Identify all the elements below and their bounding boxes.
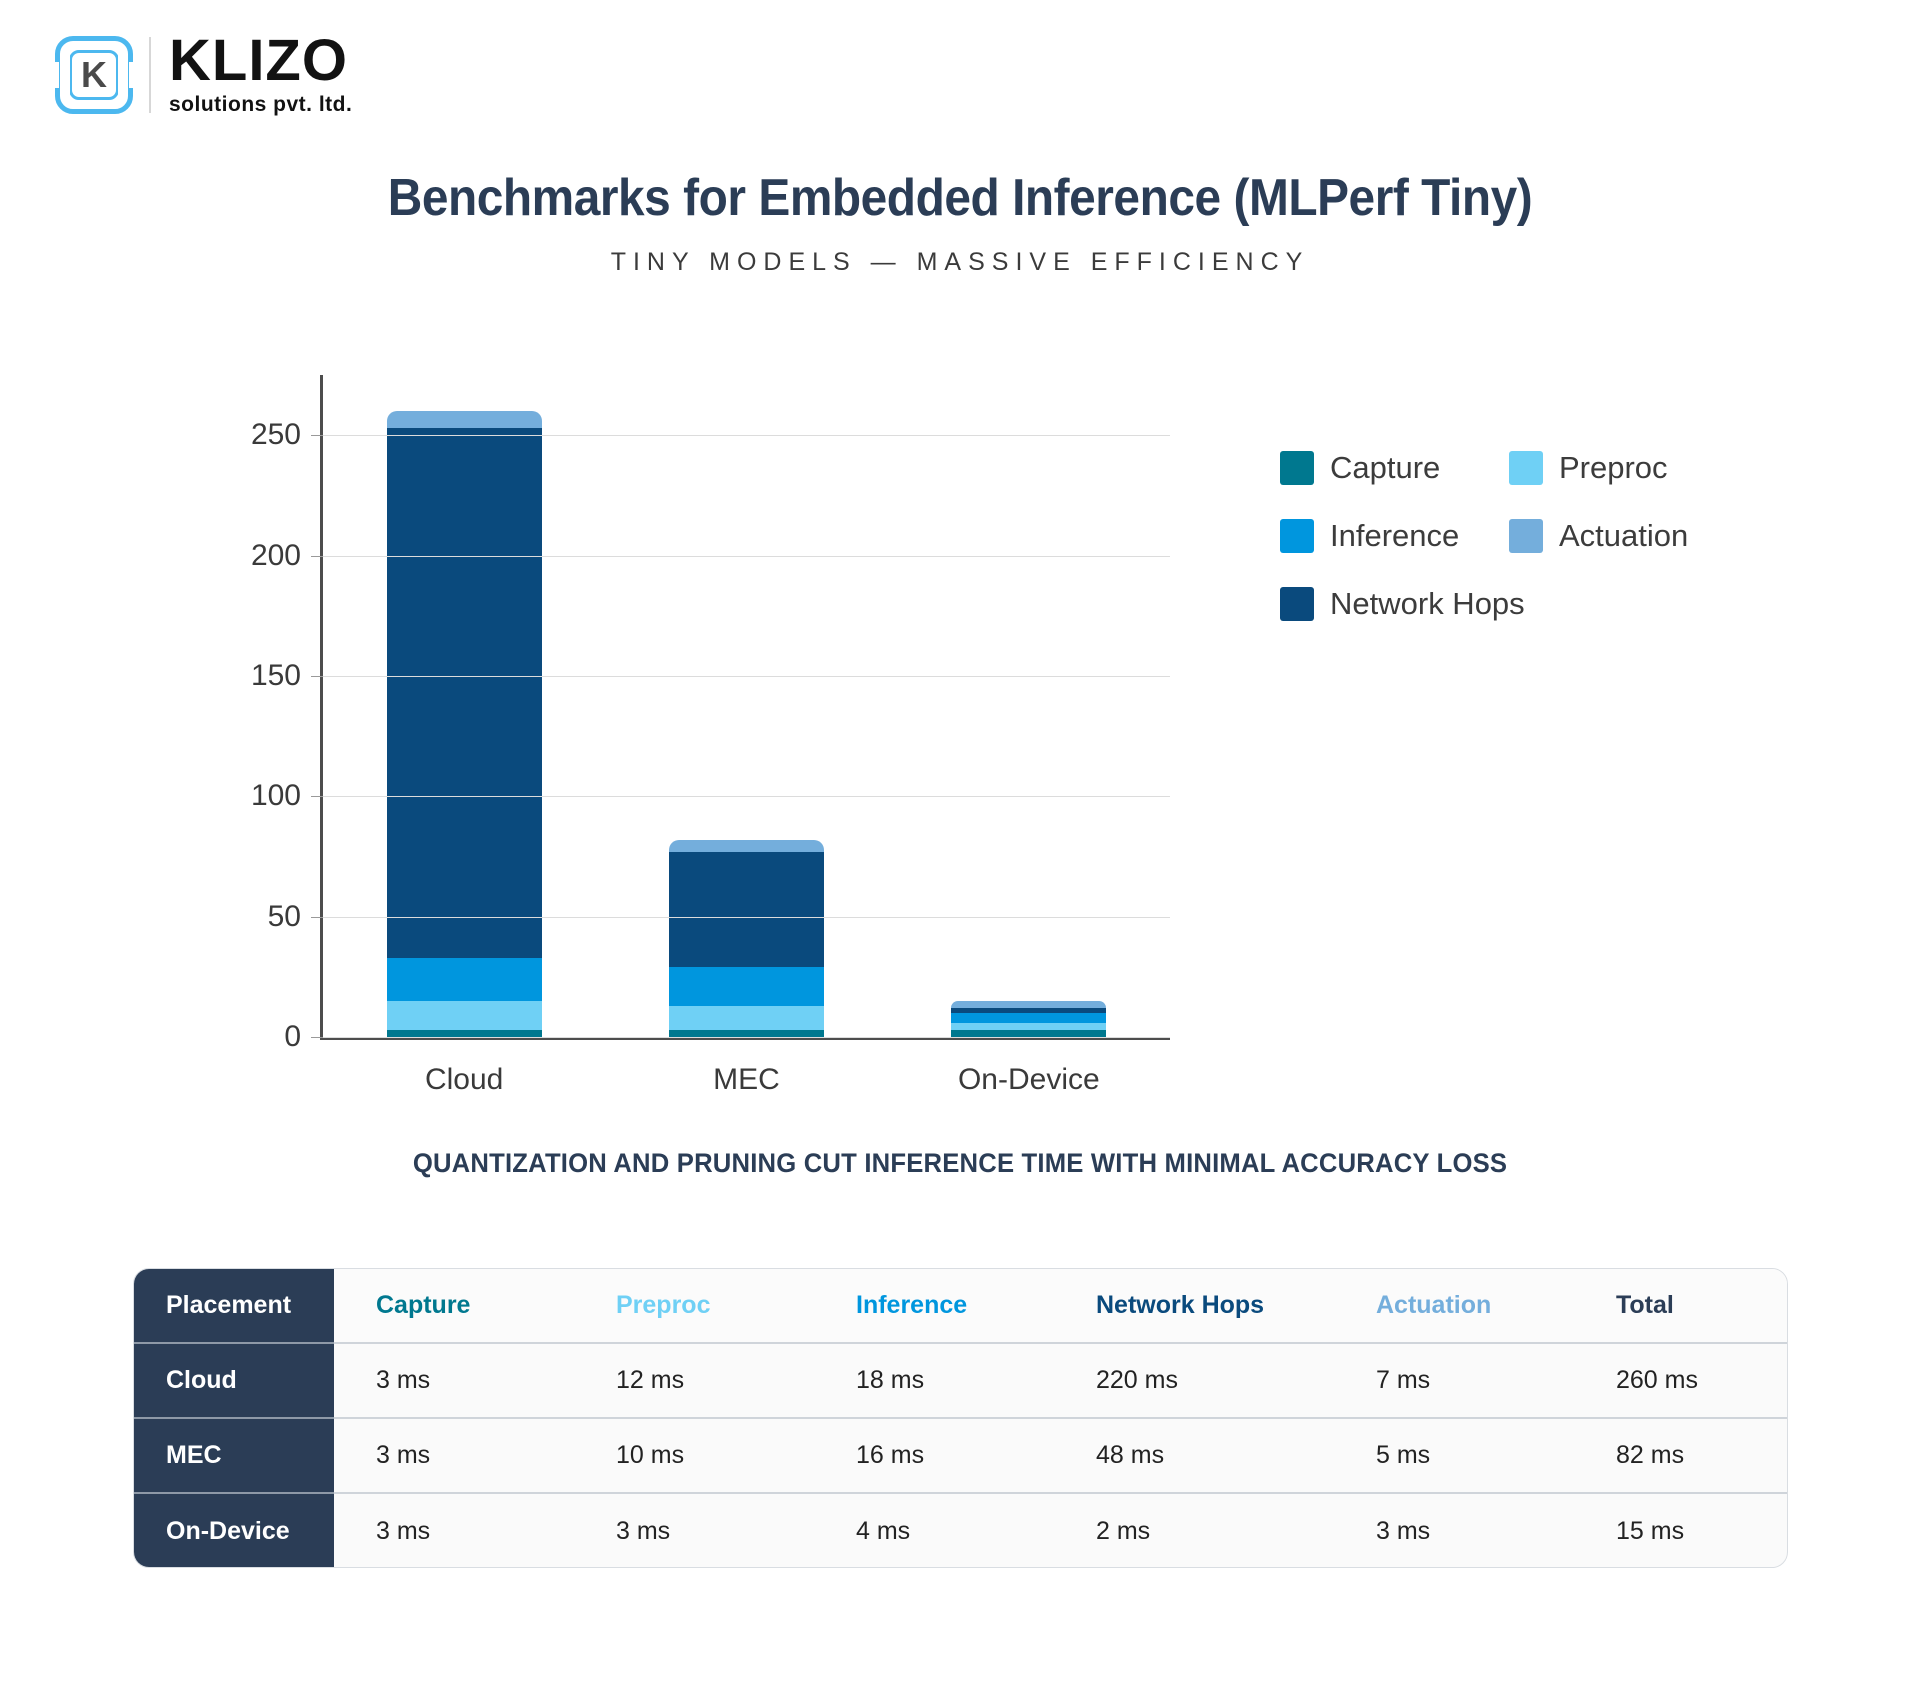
chart-y-tick xyxy=(311,676,323,677)
chart-bar[interactable] xyxy=(387,411,542,1037)
chart-legend: CapturePreprocInferenceActuationNetwork … xyxy=(1280,450,1710,622)
legend-swatch-icon xyxy=(1509,451,1543,485)
chart-category-cloud: Cloud xyxy=(323,375,605,1037)
legend-item-capture[interactable]: Capture xyxy=(1280,450,1481,486)
legend-label: Preproc xyxy=(1559,450,1668,486)
table-cell-total: 260 ms xyxy=(1574,1343,1788,1418)
chart-y-label: 200 xyxy=(251,539,301,573)
chart-y-tick xyxy=(311,556,323,557)
chart-y-label: 250 xyxy=(251,418,301,452)
table-cell-capture: 3 ms xyxy=(334,1343,574,1418)
brand-name: KLIZO xyxy=(169,33,352,88)
legend-swatch-icon xyxy=(1280,519,1314,553)
chart-segment-capture xyxy=(669,1030,824,1037)
table-header-row: Placement Capture Preproc Inference Netw… xyxy=(134,1269,1788,1343)
table-row: Cloud3 ms12 ms18 ms220 ms7 ms260 ms xyxy=(134,1343,1788,1418)
table-cell-capture: 3 ms xyxy=(334,1418,574,1493)
table-header-total: Total xyxy=(1574,1269,1788,1343)
chart-gridline xyxy=(323,676,1170,677)
table-row: MEC3 ms10 ms16 ms48 ms5 ms82 ms xyxy=(134,1418,1788,1493)
chart-segment-capture xyxy=(387,1030,542,1037)
table-cell-actuation: 5 ms xyxy=(1334,1418,1574,1493)
table-header-actuation: Actuation xyxy=(1334,1269,1574,1343)
chart-segment-preproc xyxy=(669,1006,824,1030)
chart-segment-inference xyxy=(669,967,824,1006)
table-cell-total: 15 ms xyxy=(1574,1493,1788,1568)
legend-item-preproc[interactable]: Preproc xyxy=(1509,450,1710,486)
legend-label: Actuation xyxy=(1559,518,1688,554)
chart-plot-area: CloudMECOn-Device 050100150200250 xyxy=(320,375,1170,1040)
legend-item-actuation[interactable]: Actuation xyxy=(1509,518,1710,554)
table-row: On-Device3 ms3 ms4 ms2 ms3 ms15 ms xyxy=(134,1493,1788,1568)
klizo-logo-icon: K xyxy=(55,36,133,114)
chart-gridline xyxy=(323,556,1170,557)
table-cell-actuation: 3 ms xyxy=(1334,1493,1574,1568)
legend-label: Capture xyxy=(1330,450,1440,486)
chart-segment-network-hops xyxy=(387,428,542,958)
chart-y-label: 150 xyxy=(251,659,301,693)
chart-bars: CloudMECOn-Device xyxy=(323,375,1170,1037)
legend-label: Network Hops xyxy=(1330,586,1525,622)
legend-label: Inference xyxy=(1330,518,1459,554)
table-cell-inference: 4 ms xyxy=(814,1493,1054,1568)
chart-segment-actuation xyxy=(669,840,824,852)
chart-gridline xyxy=(323,796,1170,797)
chart-segment-actuation xyxy=(387,411,542,428)
chart-category-on-device: On-Device xyxy=(888,375,1170,1037)
table-header-inference: Inference xyxy=(814,1269,1054,1343)
logo-divider xyxy=(149,37,151,113)
chart-bar[interactable] xyxy=(669,840,824,1037)
table-cell-placement: MEC xyxy=(134,1418,334,1493)
chart-gridline xyxy=(323,1037,1170,1038)
chart-gridline xyxy=(323,435,1170,436)
chart-segment-inference xyxy=(387,958,542,1001)
table-cell-inference: 16 ms xyxy=(814,1418,1054,1493)
chart-y-label: 50 xyxy=(268,900,301,934)
chart-y-tick xyxy=(311,796,323,797)
page-title: Benchmarks for Embedded Inference (MLPer… xyxy=(77,168,1843,228)
table-header-capture: Capture xyxy=(334,1269,574,1343)
table-cell-placement: Cloud xyxy=(134,1343,334,1418)
legend-swatch-icon xyxy=(1280,451,1314,485)
brand-logo: K KLIZO solutions pvt. ltd. xyxy=(55,30,352,120)
table-cell-network-hops: 2 ms xyxy=(1054,1493,1334,1568)
chart-y-tick xyxy=(311,435,323,436)
chart-bar[interactable] xyxy=(951,1001,1106,1037)
chart-caption: QUANTIZATION AND PRUNING CUT INFERENCE T… xyxy=(48,1148,1872,1179)
chart-segment-preproc xyxy=(387,1001,542,1030)
chart-segment-capture xyxy=(951,1030,1106,1037)
table-cell-preproc: 3 ms xyxy=(574,1493,814,1568)
table-cell-capture: 3 ms xyxy=(334,1493,574,1568)
legend-swatch-icon xyxy=(1509,519,1543,553)
page-subtitle: TINY MODELS — MASSIVE EFFICIENCY xyxy=(0,248,1920,277)
table-header-preproc: Preproc xyxy=(574,1269,814,1343)
table-cell-inference: 18 ms xyxy=(814,1343,1054,1418)
chart-y-tick xyxy=(311,917,323,918)
chart-x-label: Cloud xyxy=(425,1063,503,1097)
benchmark-table-card: Placement Capture Preproc Inference Netw… xyxy=(133,1268,1788,1568)
table-cell-network-hops: 48 ms xyxy=(1054,1418,1334,1493)
logo-letter: K xyxy=(81,57,107,93)
legend-item-network-hops[interactable]: Network Hops xyxy=(1280,586,1710,622)
table-cell-network-hops: 220 ms xyxy=(1054,1343,1334,1418)
chart-segment-preproc xyxy=(951,1023,1106,1030)
chart-y-tick xyxy=(311,1037,323,1038)
table-cell-placement: On-Device xyxy=(134,1493,334,1568)
stacked-bar-chart: CloudMECOn-Device 050100150200250 Captur… xyxy=(180,375,1740,955)
table-cell-preproc: 12 ms xyxy=(574,1343,814,1418)
legend-swatch-icon xyxy=(1280,587,1314,621)
chart-x-label: MEC xyxy=(713,1063,780,1097)
chart-segment-inference xyxy=(951,1013,1106,1023)
table-header-network-hops: Network Hops xyxy=(1054,1269,1334,1343)
table-header-placement: Placement xyxy=(134,1269,334,1343)
legend-item-inference[interactable]: Inference xyxy=(1280,518,1481,554)
brand-tagline: solutions pvt. ltd. xyxy=(169,93,352,117)
chart-gridline xyxy=(323,917,1170,918)
table-cell-preproc: 10 ms xyxy=(574,1418,814,1493)
table-cell-actuation: 7 ms xyxy=(1334,1343,1574,1418)
chart-segment-actuation xyxy=(951,1001,1106,1008)
chart-y-label: 0 xyxy=(284,1020,301,1054)
chart-y-label: 100 xyxy=(251,779,301,813)
chart-category-mec: MEC xyxy=(605,375,887,1037)
table-cell-total: 82 ms xyxy=(1574,1418,1788,1493)
chart-x-label: On-Device xyxy=(958,1063,1100,1097)
benchmark-table: Placement Capture Preproc Inference Netw… xyxy=(134,1269,1788,1568)
chart-segment-network-hops xyxy=(669,852,824,968)
